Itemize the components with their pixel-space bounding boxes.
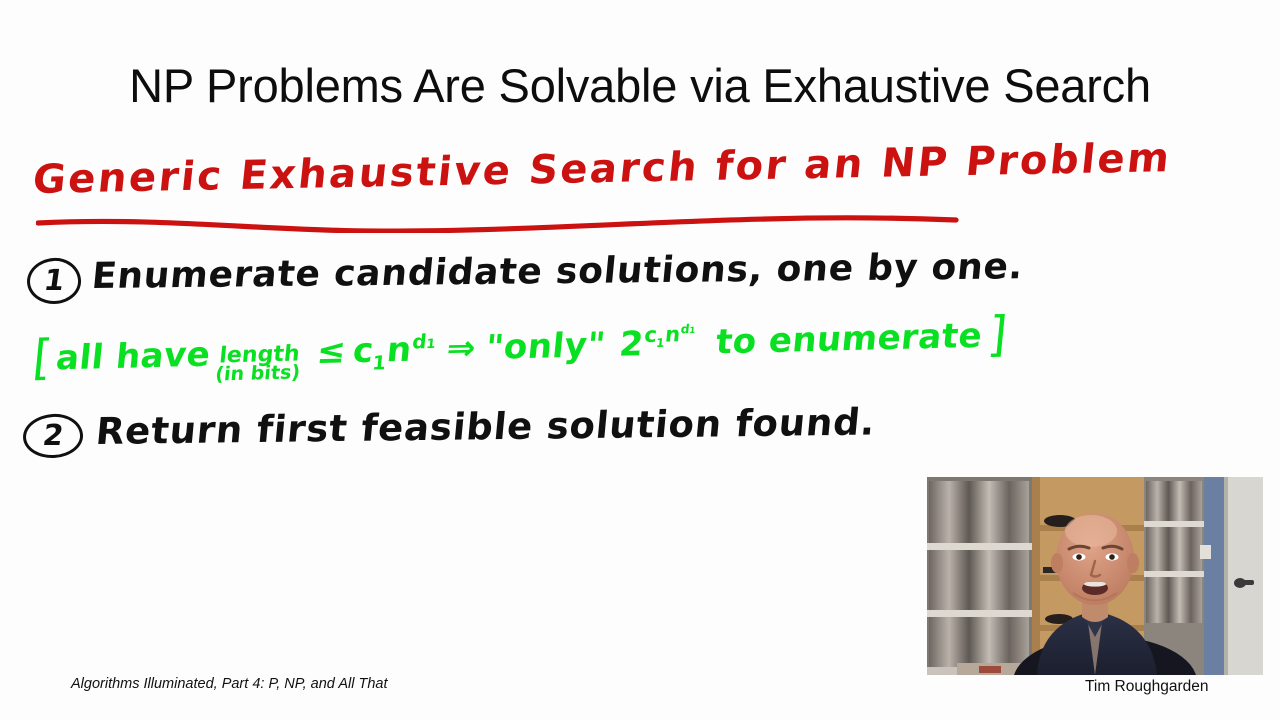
green-note-only: "only": [484, 325, 607, 368]
power-exp-d-sub: 1: [689, 325, 696, 335]
step-two-circle-number: 2: [23, 414, 83, 458]
step-one-circle-number: 1: [27, 258, 81, 304]
green-open-bracket: [: [30, 330, 55, 386]
presenter-name-label: Tim Roughgarden: [1085, 678, 1209, 696]
footer-citation: Algorithms Illuminated, Part 4: P, NP, a…: [71, 676, 387, 692]
webcam-video-thumbnail[interactable]: [927, 477, 1263, 675]
power-exp-n: n: [664, 321, 682, 346]
green-note-annotation: [ all have length (in bits) ≤ c1nd1 ⇒ "o…: [30, 302, 1011, 391]
red-underline-stroke: [36, 213, 960, 233]
green-note-part1: all have: [54, 335, 212, 379]
red-heading-annotation: Generic Exhaustive Search for an NP Prob…: [31, 135, 1174, 203]
power-base: 2: [617, 324, 645, 365]
green-note-relation: ≤: [315, 331, 348, 372]
green-note-implies: ⇒: [445, 328, 478, 369]
step-one-text: Enumerate candidate solutions, one by on…: [90, 246, 1025, 297]
power-exp: c1nd1: [643, 321, 696, 347]
bound-d-sub: 1: [426, 337, 436, 352]
green-close-bracket: ]: [985, 306, 1010, 362]
bound-c-sub: 1: [371, 352, 386, 374]
green-note-length-stack: length (in bits): [214, 344, 302, 384]
page-title: NP Problems Are Solvable via Exhaustive …: [0, 58, 1280, 113]
green-note-power: 2c1nd1: [617, 323, 696, 365]
bound-n: n: [385, 330, 414, 371]
presentation-slide: NP Problems Are Solvable via Exhaustive …: [0, 0, 1280, 720]
step-two-text: Return first feasible solution found.: [94, 400, 877, 453]
green-note-tail: to enumerate: [714, 316, 984, 362]
green-note-in-bits: (in bits): [214, 365, 300, 385]
webcam-scene: [927, 477, 1263, 675]
green-note-bound: c1nd1: [351, 329, 437, 375]
